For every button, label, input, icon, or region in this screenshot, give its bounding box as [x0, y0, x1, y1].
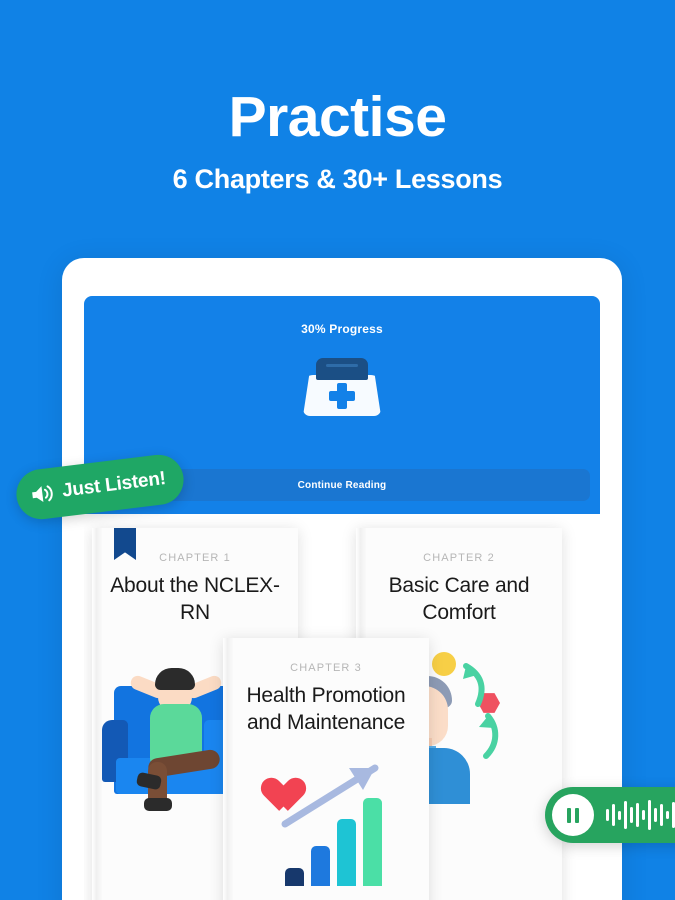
chart-bar-2 [311, 846, 330, 886]
nurse-cap-band [316, 358, 368, 380]
chapter-card-3-body: CHAPTER 3 Health Promotion and Maintenan… [223, 638, 429, 900]
chapter-2-eyebrow: CHAPTER 2 [356, 552, 562, 564]
waveform-icon [606, 798, 675, 832]
app-root: Practise 6 Chapters & 30+ Lessons 30% Pr… [0, 0, 675, 900]
page-subtitle: 6 Chapters & 30+ Lessons [0, 164, 675, 195]
tablet-frame: 30% Progress Continue Reading [62, 258, 622, 900]
chapter-cards-area: CHAPTER 1 About the NCLEX-RN [84, 514, 600, 900]
chapter-1-title: About the NCLEX-RN [92, 573, 298, 626]
nurse-cap-icon [303, 358, 381, 416]
heart-growth-bar-chart-icon [223, 756, 429, 886]
chapter-1-eyebrow: CHAPTER 1 [92, 552, 298, 564]
page-header: Practise 6 Chapters & 30+ Lessons [0, 0, 675, 195]
audio-player[interactable] [545, 787, 675, 843]
progress-label: 30% Progress [84, 322, 600, 336]
speaker-icon [29, 482, 56, 507]
page-title: Practise [0, 88, 675, 148]
just-listen-label: Just Listen! [61, 468, 167, 503]
pause-bar-right [575, 808, 579, 823]
chart-bar-3 [337, 819, 356, 886]
chapter-2-title: Basic Care and Comfort [356, 573, 562, 626]
chapter-3-title: Health Promotion and Maintenance [223, 683, 429, 736]
chart-bar-1 [285, 868, 304, 886]
pause-bar-left [567, 808, 571, 823]
nurse-cap-band-line [326, 364, 358, 367]
person-shoe-lower [144, 798, 172, 811]
chapter-card-3[interactable]: CHAPTER 3 Health Promotion and Maintenan… [223, 638, 429, 900]
pause-icon[interactable] [552, 794, 594, 836]
person-hair [155, 668, 195, 690]
chapter-3-eyebrow: CHAPTER 3 [223, 662, 429, 674]
tablet-screen: 30% Progress Continue Reading [84, 296, 600, 900]
nurse-cap-cross-horizontal [329, 391, 355, 401]
chart-bar-4 [363, 798, 382, 886]
